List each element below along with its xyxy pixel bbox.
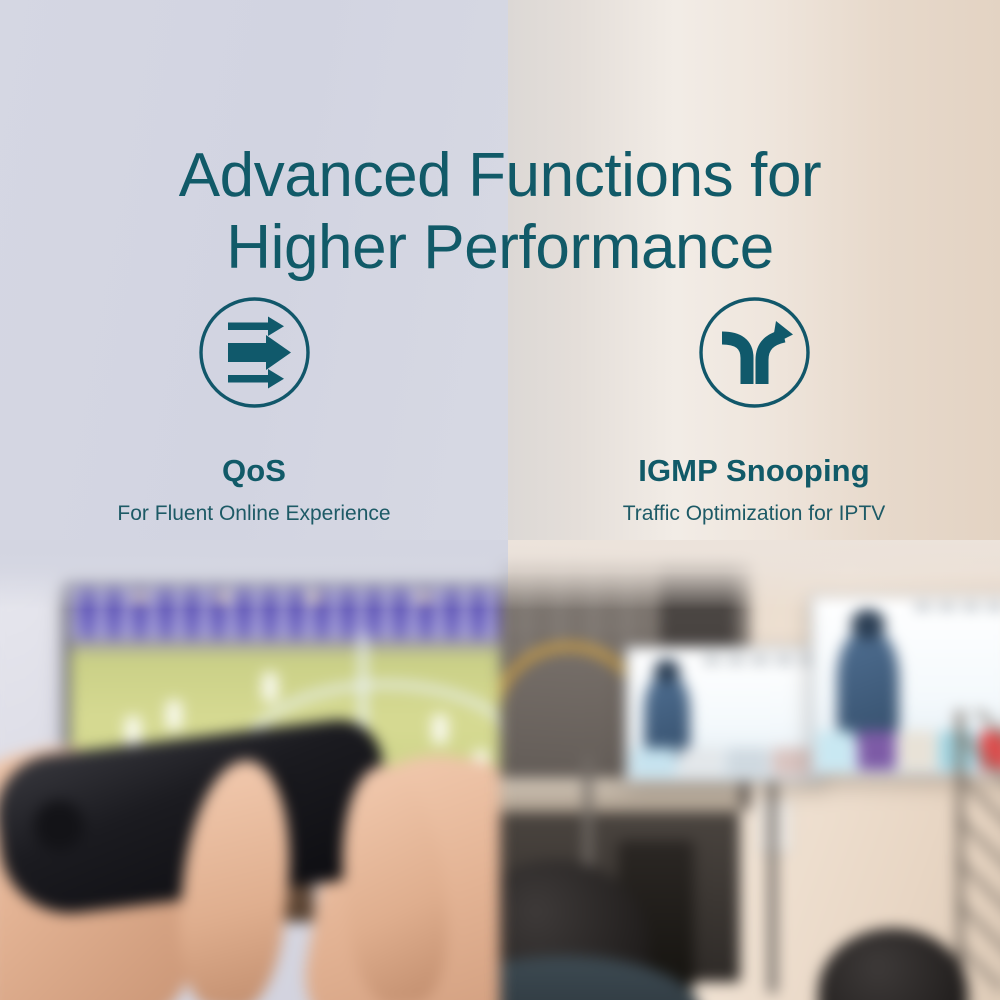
product-feature-poster: Advanced Functions for Higher Performanc… xyxy=(0,0,1000,1000)
feature-title-qos: QoS xyxy=(222,455,286,486)
feature-list: QoS For Fluent Online Experience xyxy=(0,296,1000,524)
content-layer: Advanced Functions for Higher Performanc… xyxy=(0,0,1000,1000)
headline-line-2: Higher Performance xyxy=(0,212,1000,285)
feature-qos: QoS For Fluent Online Experience xyxy=(0,296,508,524)
qos-arrows-icon xyxy=(198,296,311,409)
feature-title-igmp: IGMP Snooping xyxy=(638,455,869,486)
feature-subtitle-igmp: Traffic Optimization for IPTV xyxy=(623,503,886,524)
feature-igmp-snooping: IGMP Snooping Traffic Optimization for I… xyxy=(508,296,1000,524)
igmp-branch-arrow-icon xyxy=(698,296,811,409)
headline-line-1: Advanced Functions for xyxy=(0,140,1000,213)
feature-subtitle-qos: For Fluent Online Experience xyxy=(117,503,390,524)
page-title: Advanced Functions for Higher Performanc… xyxy=(0,140,1000,285)
